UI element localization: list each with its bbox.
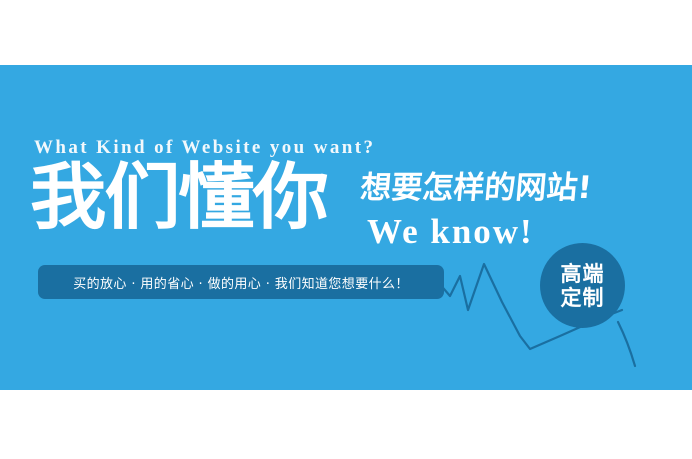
subtitle-bar: 买的放心 · 用的省心 · 做的用心 · 我们知道您想要什么！ xyxy=(38,265,444,299)
badge-line-1: 高端 xyxy=(561,262,605,286)
headline-chinese: 我们懂你 xyxy=(30,161,327,233)
blue-banner-band: 高端 定制 What Kind of Website you want? 我们懂… xyxy=(0,65,692,390)
banner-image: 高端 定制 What Kind of Website you want? 我们懂… xyxy=(0,0,692,459)
subtitle-bar-text: 买的放心 · 用的省心 · 做的用心 · 我们知道您想要什么！ xyxy=(73,273,409,292)
badge-high-end-custom[interactable]: 高端 定制 xyxy=(540,243,625,328)
right-headline-english: We know! xyxy=(367,213,534,251)
badge-line-2: 定制 xyxy=(561,286,605,310)
computer-mouse-icon xyxy=(621,381,663,390)
right-headline-chinese: 想要怎样的网站! xyxy=(359,171,593,205)
